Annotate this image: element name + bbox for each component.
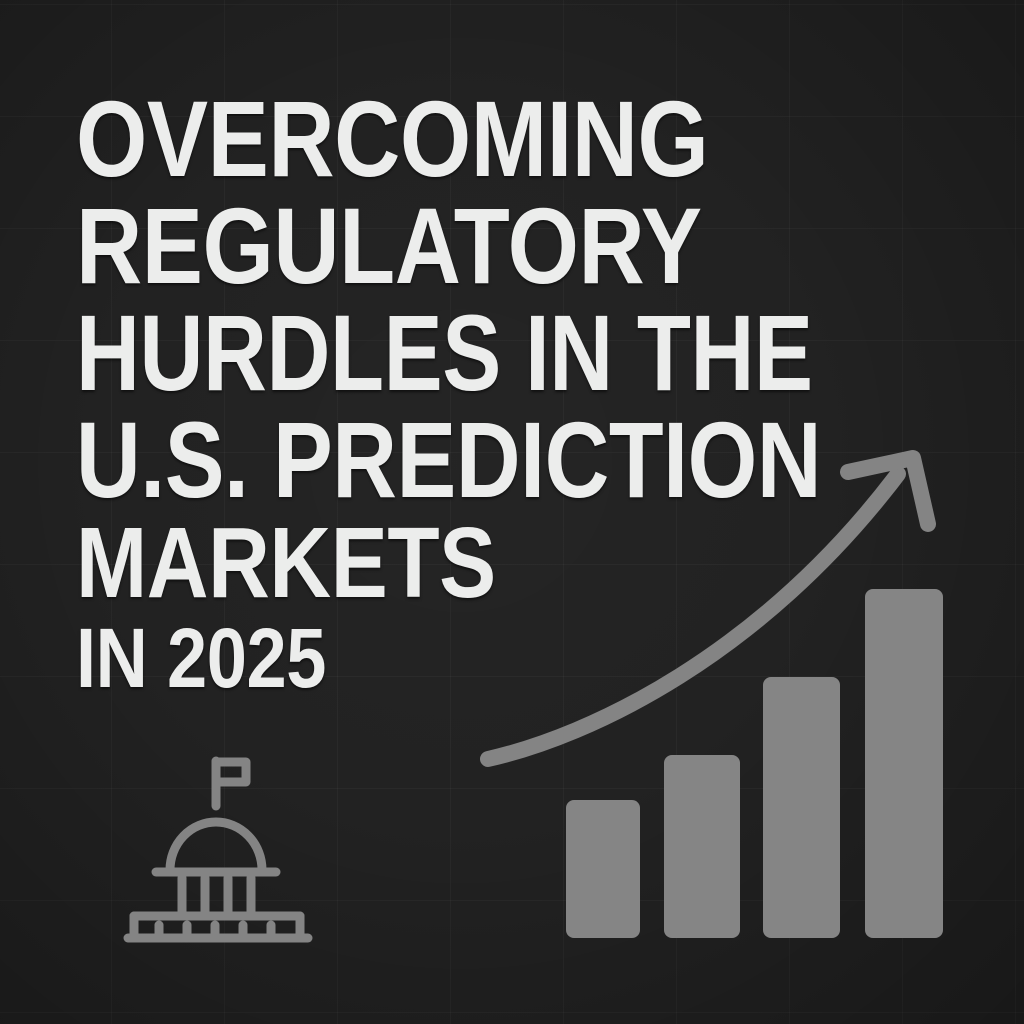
- headline-line-1: OVERCOMING: [76, 86, 768, 193]
- headline-line-2: REGULATORY: [76, 193, 768, 300]
- growth-arrow-icon: [488, 458, 928, 759]
- poster-canvas: OVERCOMING REGULATORY HURDLES IN THE U.S…: [0, 0, 1024, 1024]
- capitol-building-icon: [118, 748, 318, 950]
- growth-bar-chart: [470, 436, 970, 948]
- capitol-dome: [170, 822, 262, 870]
- chart-bar-3: [763, 677, 840, 938]
- capitol-flag: [216, 762, 246, 782]
- chart-bar-2: [664, 755, 740, 938]
- chart-bar-4: [865, 589, 943, 938]
- headline-line-3: HURDLES IN THE: [76, 300, 744, 407]
- chart-bar-1: [566, 800, 640, 938]
